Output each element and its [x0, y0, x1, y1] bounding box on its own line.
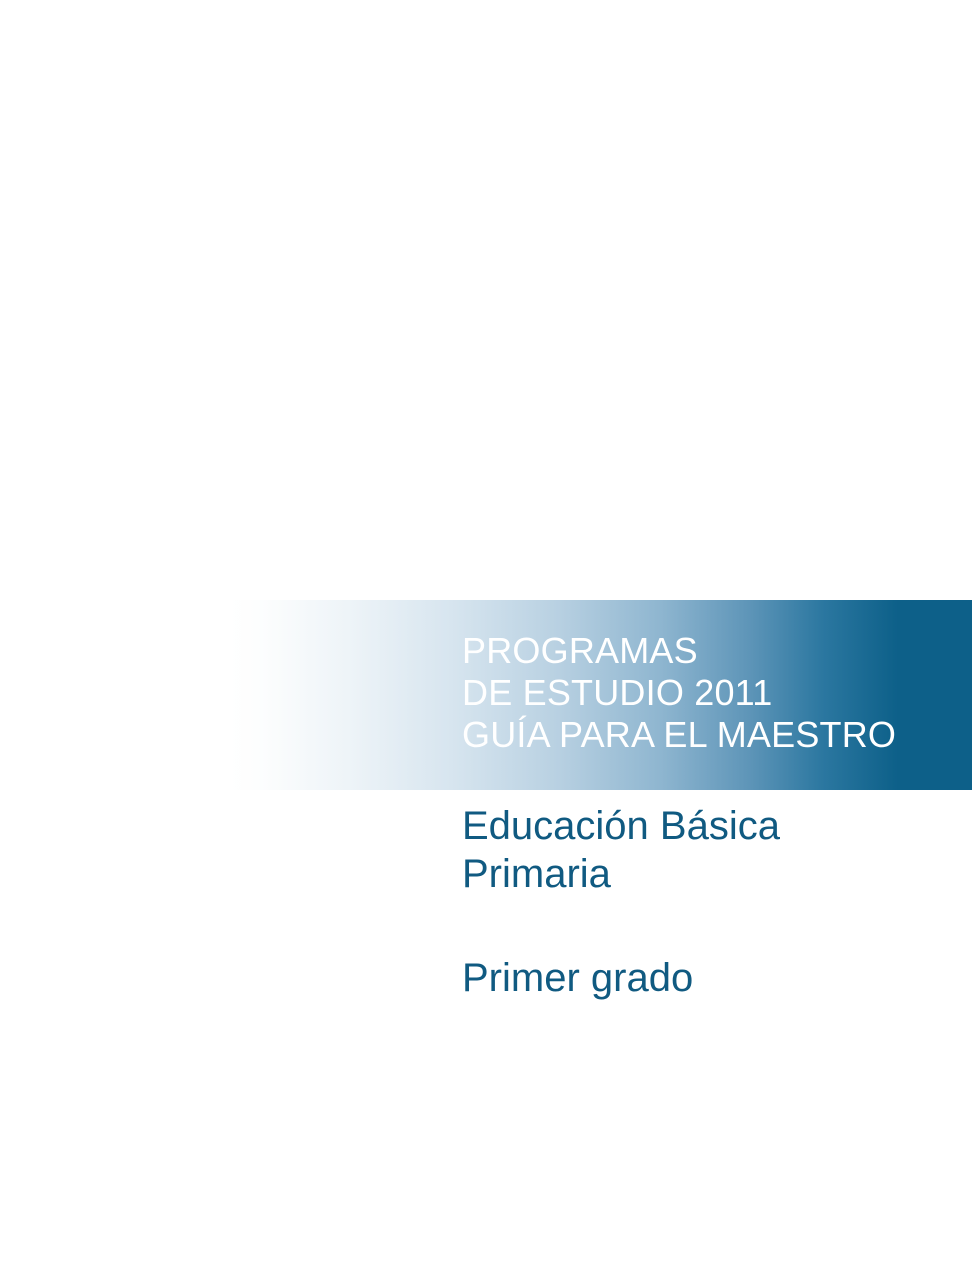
education-stage-line: Primaria: [462, 850, 972, 898]
subtitle-group: Educación Básica Primaria Primer grado: [462, 802, 972, 1002]
banner-title-line-1: PROGRAMAS: [462, 630, 972, 672]
banner-title-group: PROGRAMAS DE ESTUDIO 2011 GUÍA PARA EL M…: [462, 630, 972, 756]
banner-title-line-3: GUÍA PARA EL MAESTRO: [462, 714, 972, 756]
title-banner: PROGRAMAS DE ESTUDIO 2011 GUÍA PARA EL M…: [228, 600, 972, 790]
education-level-line: Educación Básica: [462, 802, 972, 850]
banner-title-line-2: DE ESTUDIO 2011: [462, 672, 972, 714]
grade-line: Primer grado: [462, 954, 972, 1002]
cover-page: PROGRAMAS DE ESTUDIO 2011 GUÍA PARA EL M…: [0, 0, 972, 1280]
